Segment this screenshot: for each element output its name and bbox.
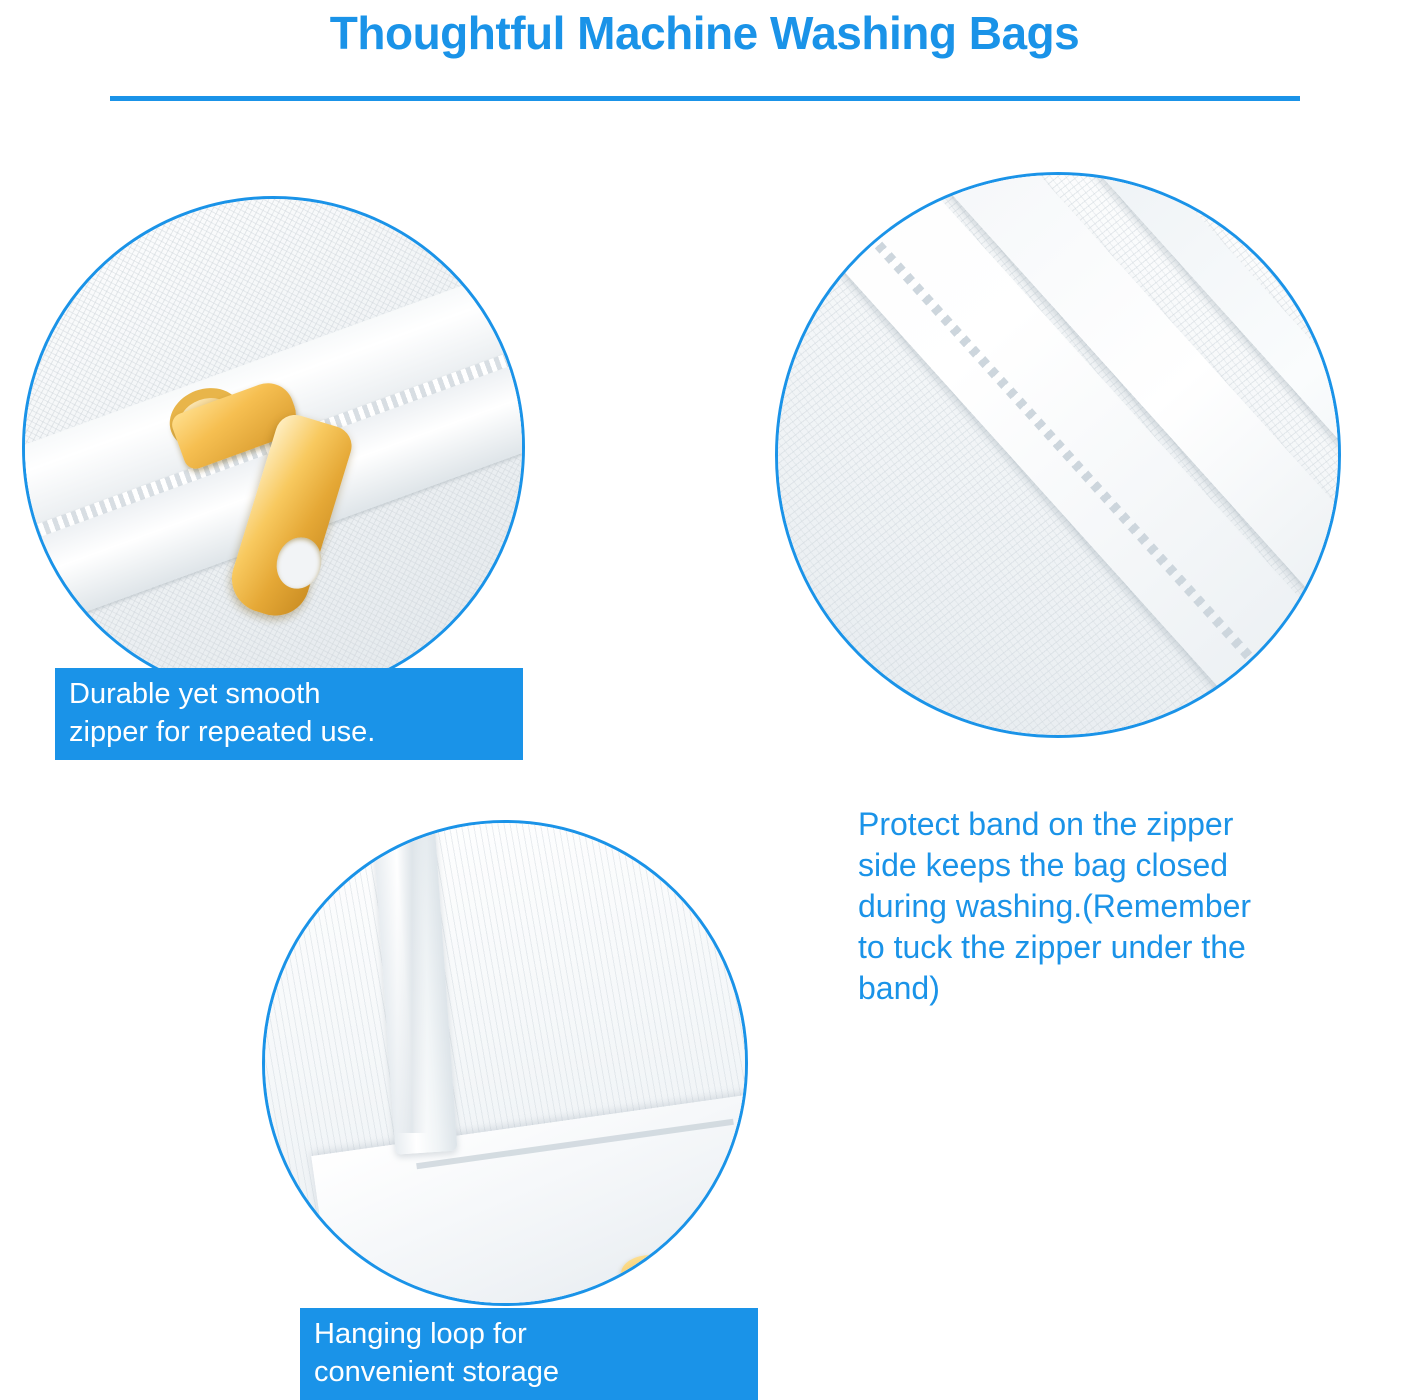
- header-divider: [110, 96, 1300, 101]
- caption-zipper: Durable yet smooth zipper for repeated u…: [55, 668, 523, 760]
- protect-band-photo: [775, 172, 1341, 738]
- gold-zipper-pull: [621, 1255, 695, 1301]
- hanging-loop-strap-highlight: [397, 820, 427, 1133]
- hanging-loop-photo: [262, 820, 748, 1306]
- caption-protect-band: Protect band on the zipper side keeps th…: [858, 804, 1400, 1009]
- page-title: Thoughtful Machine Washing Bags: [0, 6, 1409, 60]
- zipper-photo: [22, 196, 525, 699]
- caption-hanging-loop: Hanging loop for convenient storage: [300, 1308, 758, 1400]
